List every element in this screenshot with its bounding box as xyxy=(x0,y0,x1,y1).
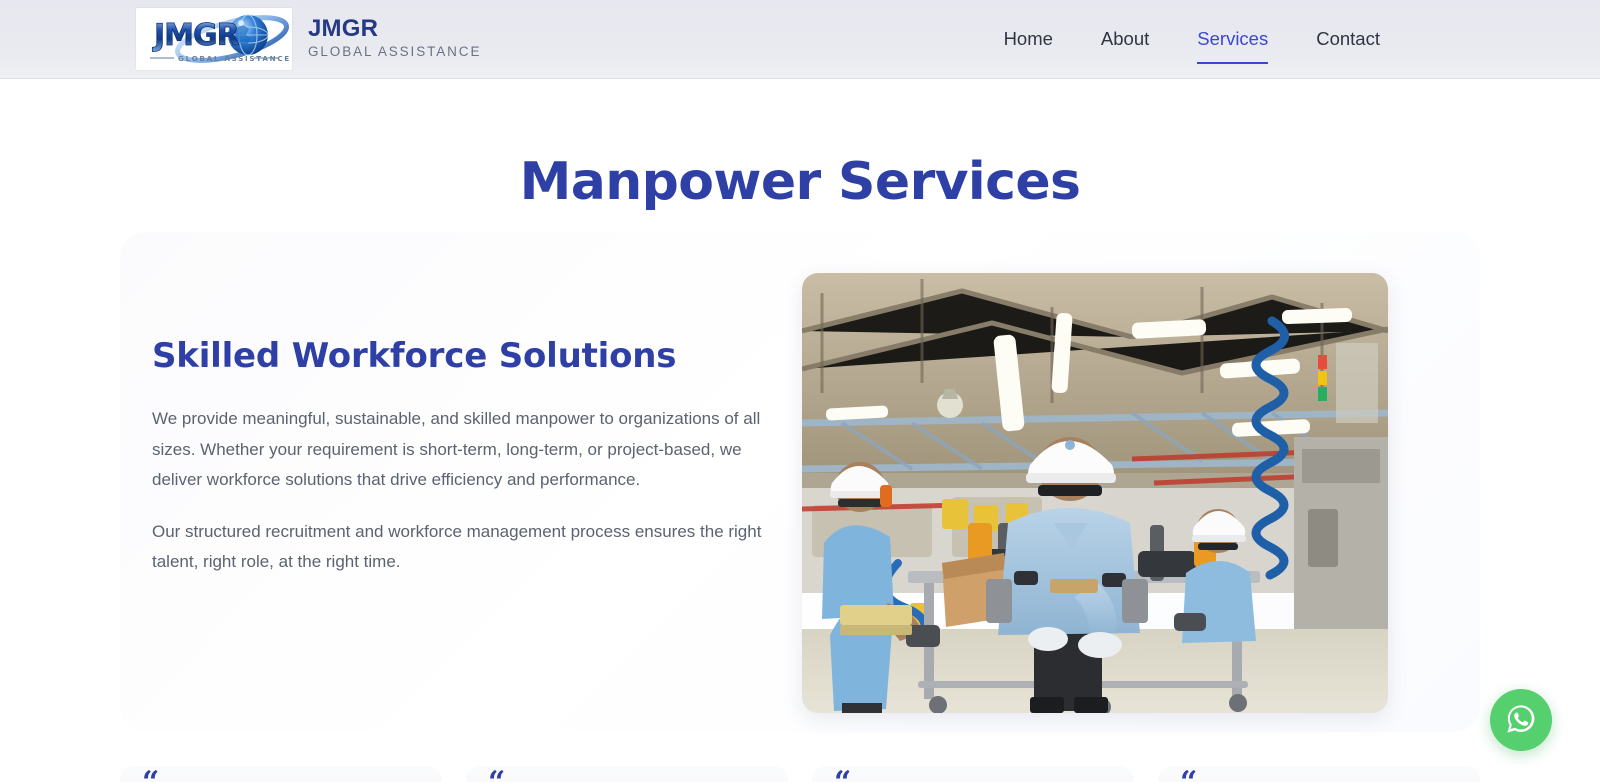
brand-logo-area[interactable]: JMGR GLOBAL ASSISTANCE JMGR GLOBAL ASSIS… xyxy=(136,8,481,70)
quote-mark-icon: “ xyxy=(488,768,505,782)
feature-card-2[interactable]: “ xyxy=(466,766,788,782)
nav-item-services[interactable]: Services xyxy=(1173,21,1292,57)
main-navigation: Home About Services Contact xyxy=(980,21,1404,57)
brand-text: JMGR GLOBAL ASSISTANCE xyxy=(308,16,481,63)
section-text-column: Skilled Workforce Solutions We provide m… xyxy=(152,336,762,578)
section-paragraph-1: We provide meaningful, sustainable, and … xyxy=(152,404,762,496)
quote-mark-icon: “ xyxy=(834,768,851,782)
feature-card-1[interactable]: “ xyxy=(120,766,442,782)
jmgr-globe-logo-icon[interactable]: JMGR GLOBAL ASSISTANCE xyxy=(136,8,292,70)
feature-card-3[interactable]: “ xyxy=(812,766,1134,782)
quote-mark-icon: “ xyxy=(142,768,159,782)
svg-text:JMGR: JMGR xyxy=(152,18,240,53)
site-header: JMGR GLOBAL ASSISTANCE JMGR GLOBAL ASSIS… xyxy=(0,0,1600,79)
feature-cards-row: “ “ “ “ xyxy=(120,766,1480,782)
nav-item-home[interactable]: Home xyxy=(980,21,1077,57)
nav-item-contact[interactable]: Contact xyxy=(1292,21,1404,57)
brand-tagline: GLOBAL ASSISTANCE xyxy=(308,42,481,62)
workforce-section-card: Skilled Workforce Solutions We provide m… xyxy=(120,232,1480,732)
section-heading: Skilled Workforce Solutions xyxy=(152,336,762,376)
brand-name: JMGR xyxy=(308,16,481,42)
whatsapp-chat-button[interactable] xyxy=(1490,689,1552,751)
svg-text:GLOBAL ASSISTANCE: GLOBAL ASSISTANCE xyxy=(178,54,291,63)
factory-workers-image xyxy=(802,273,1388,713)
whatsapp-icon xyxy=(1504,702,1538,739)
nav-item-about[interactable]: About xyxy=(1077,21,1173,57)
page-title: Manpower Services xyxy=(0,152,1600,212)
section-paragraph-2: Our structured recruitment and workforce… xyxy=(152,517,762,578)
quote-mark-icon: “ xyxy=(1180,768,1197,782)
feature-card-4[interactable]: “ xyxy=(1158,766,1480,782)
